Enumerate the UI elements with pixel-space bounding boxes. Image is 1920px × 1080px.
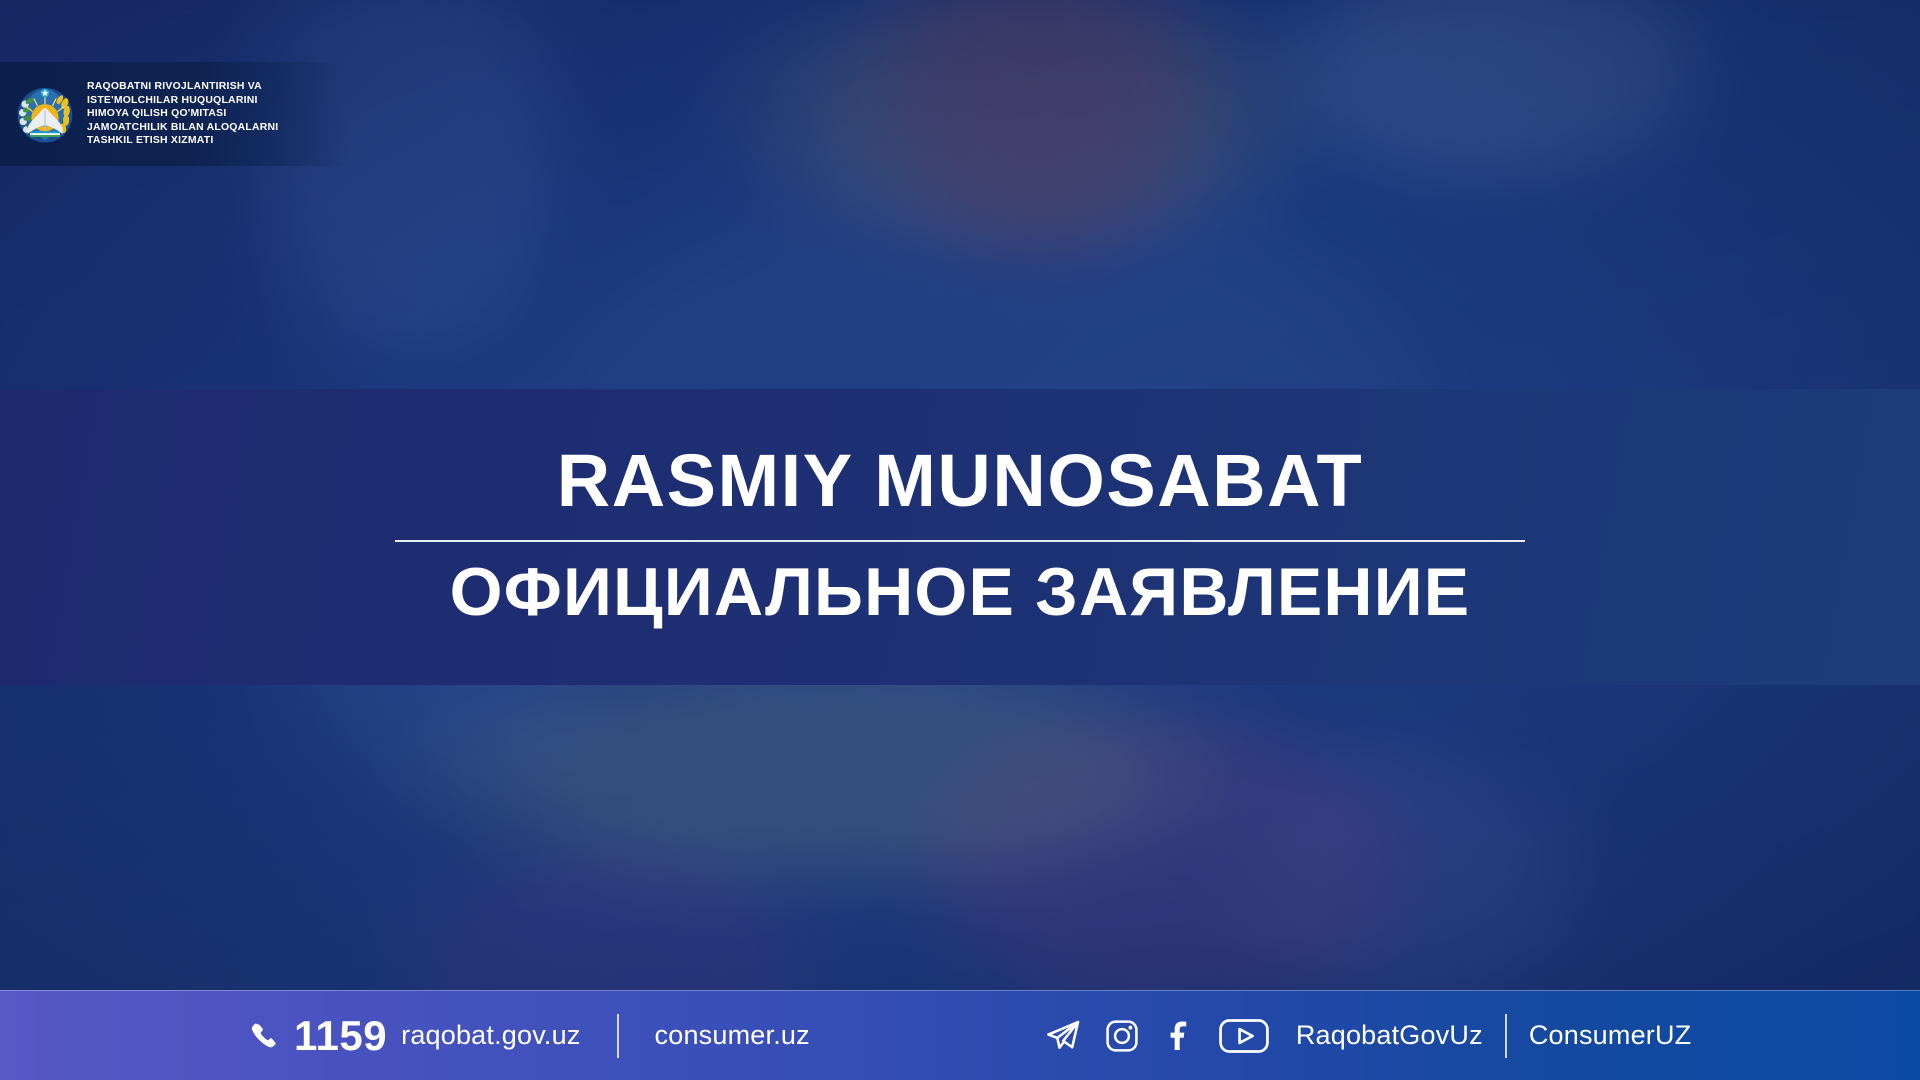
- handle-secondary[interactable]: ConsumerUZ: [1529, 1022, 1692, 1049]
- announcement-title-band: RASMIY MUNOSABAT ОФИЦИАЛЬНОЕ ЗАЯВЛЕНИЕ: [0, 389, 1920, 685]
- footer-contact-group: 1159 raqobat.gov.uz consumer.uz: [250, 1014, 810, 1058]
- header-organization-badge: RAQOBATNI RIVOJLANTIRISH VA ISTE'MOLCHIL…: [0, 62, 348, 166]
- instagram-icon[interactable]: [1104, 1018, 1140, 1054]
- footer-social-icons: [1044, 1017, 1270, 1055]
- title-divider: [395, 540, 1525, 542]
- hotline-number: 1159: [294, 1015, 387, 1057]
- poster-canvas: RAQOBATNI RIVOJLANTIRISH VA ISTE'MOLCHIL…: [0, 0, 1920, 1080]
- footer-divider-2: [1505, 1014, 1507, 1058]
- website-primary[interactable]: raqobat.gov.uz: [401, 1022, 580, 1049]
- phone-icon: [250, 1020, 280, 1052]
- organization-name: RAQOBATNI RIVOJLANTIRISH VA ISTE'MOLCHIL…: [87, 80, 278, 148]
- website-secondary[interactable]: consumer.uz: [655, 1022, 810, 1049]
- telegram-icon[interactable]: [1044, 1017, 1082, 1055]
- uzbekistan-state-emblem-icon: [14, 83, 76, 145]
- youtube-icon[interactable]: [1218, 1017, 1270, 1055]
- footer-divider-1: [617, 1014, 619, 1058]
- footer-contact-bar: 1159 raqobat.gov.uz consumer.uz: [0, 990, 1920, 1080]
- facebook-icon[interactable]: [1162, 1018, 1196, 1054]
- footer-handles-group: RaqobatGovUz ConsumerUZ: [1296, 1014, 1692, 1058]
- handle-primary[interactable]: RaqobatGovUz: [1296, 1022, 1483, 1049]
- title-russian: ОФИЦИАЛЬНОЕ ЗАЯВЛЕНИЕ: [450, 558, 1471, 626]
- title-uzbek: RASMIY MUNOSABAT: [557, 444, 1364, 518]
